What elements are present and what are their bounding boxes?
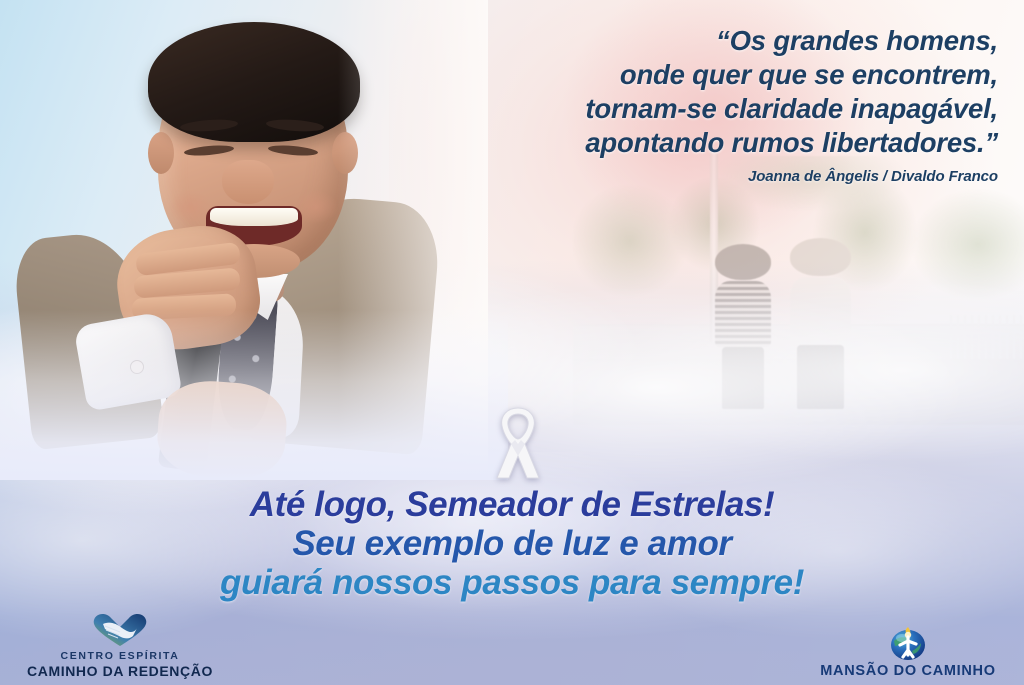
headline-line-3: guiará nossos passos para sempre! [0, 563, 1024, 602]
shirt-cuff [73, 310, 182, 411]
globe-figure-icon [798, 623, 1018, 663]
quote-line-2: onde quer que se encontrem, [398, 58, 998, 92]
quote-attribution: Joanna de Ângelis / Divaldo Franco [398, 168, 998, 185]
logo-right-line-2: MANSÃO DO CAMINHO [798, 663, 1018, 679]
quote-line-4: apontando rumos libertadores.” [398, 126, 998, 160]
ear-left [148, 132, 174, 174]
nose [222, 160, 274, 204]
headline-text: Até logo, Semeador de Estrelas! Seu exem… [0, 485, 1024, 602]
logo-left-line-2: CAMINHO DA REDENÇÃO [10, 663, 230, 679]
headline-line-1: Até logo, Semeador de Estrelas! [0, 485, 1024, 524]
teeth [210, 208, 298, 226]
quote-text: “Os grandes homens, onde quer que se enc… [398, 24, 998, 160]
logo-mansao-do-caminho: MANSÃO DO CAMINHO [798, 623, 1018, 679]
headline-line-2: Seu exemplo de luz e amor [0, 524, 1024, 563]
heart-hands-icon [10, 610, 230, 650]
quote-line-1: “Os grandes homens, [398, 24, 998, 58]
ear-right [332, 132, 358, 174]
memorial-poster: “Os grandes homens, onde quer que se enc… [0, 0, 1024, 685]
cuff-button [130, 360, 144, 374]
hair [148, 22, 360, 142]
logo-left-line-1: CENTRO ESPÍRITA [10, 650, 230, 663]
quote-line-3: tornam-se claridade inapagável, [398, 92, 998, 126]
white-ribbon-icon [487, 404, 549, 484]
logo-centro-espirita: CENTRO ESPÍRITA CAMINHO DA REDENÇÃO [10, 610, 230, 679]
